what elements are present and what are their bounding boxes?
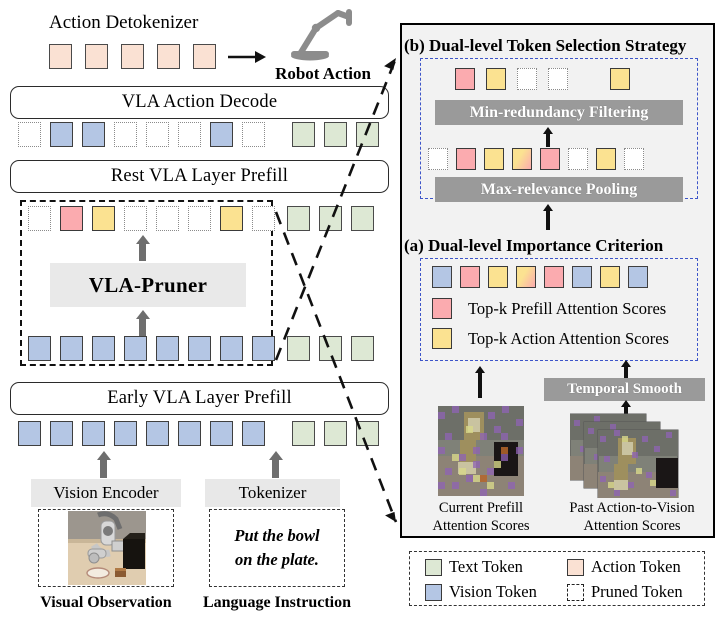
past-action-heatmap-stack xyxy=(570,410,686,498)
visual-observation-image xyxy=(68,511,146,585)
legend-vision-token: Vision Token xyxy=(425,582,537,602)
token-mixed-score xyxy=(512,148,532,170)
token-pruned xyxy=(146,122,169,147)
token-prefill-score xyxy=(460,266,480,288)
token-pruned xyxy=(252,206,275,231)
token-row-pruner-output xyxy=(28,206,275,231)
legend-label: Top-k Action Attention Scores xyxy=(468,329,669,349)
token-row-pruner-input-text xyxy=(287,336,374,361)
caption-line-2: Attention Scores xyxy=(420,517,542,535)
swatch-action-token xyxy=(567,559,584,576)
arrow-pooling-to-filtering xyxy=(546,133,550,147)
legend-label: Text Token xyxy=(449,557,523,577)
instruction-text: Put the bowl on the plate. xyxy=(234,524,319,572)
token-vision xyxy=(124,336,147,361)
token-action xyxy=(85,44,108,69)
token-vision xyxy=(18,421,41,446)
token-text xyxy=(319,336,342,361)
token-text xyxy=(356,122,379,147)
vla-pruner-block: VLA-Pruner xyxy=(50,263,246,307)
robot-action-label: Robot Action xyxy=(243,64,403,84)
token-pruned xyxy=(188,206,211,231)
stage-rest-vla-layer-prefill: Rest VLA Layer Prefill xyxy=(10,160,389,193)
token-vision xyxy=(60,336,83,361)
min-redundancy-label: Min-redundancy Filtering xyxy=(470,104,649,122)
token-pruned xyxy=(428,148,448,170)
token-pruned xyxy=(624,148,644,170)
legend-topk-action: Top-k Action Attention Scores xyxy=(432,328,669,349)
current-prefill-caption: Current Prefill Attention Scores xyxy=(420,499,542,535)
token-pruned xyxy=(114,122,137,147)
token-text xyxy=(324,122,347,147)
token-action-score xyxy=(220,206,243,231)
legend-label: Vision Token xyxy=(449,582,537,602)
token-text xyxy=(287,206,310,231)
token-action xyxy=(157,44,180,69)
legend-topk-prefill: Top-k Prefill Attention Scores xyxy=(432,298,666,319)
past-action-caption: Past Action-to-Vision Attention Scores xyxy=(556,499,708,535)
token-action xyxy=(49,44,72,69)
token-row-after-rest-prefill xyxy=(18,122,379,147)
swatch-action-score xyxy=(432,328,452,349)
action-detokenizer-label: Action Detokenizer xyxy=(49,12,198,34)
token-row-pruner-output-text xyxy=(287,206,374,231)
criterion-token-row xyxy=(432,266,648,288)
swatch-text-token xyxy=(425,559,442,576)
arrow-criterion-to-strategy xyxy=(546,210,550,230)
token-pruned xyxy=(28,206,51,231)
token-action-score xyxy=(610,68,630,90)
token-action-score xyxy=(600,266,620,288)
max-relevance-label: Max-relevance Pooling xyxy=(481,181,638,199)
caption-line-2: Attention Scores xyxy=(556,517,708,535)
token-text xyxy=(292,421,315,446)
arrow-input-to-pruner xyxy=(139,318,146,336)
token-vision xyxy=(178,421,201,446)
pooled-token-row xyxy=(428,148,644,170)
swatch-prefill-score xyxy=(432,298,452,319)
token-action-score xyxy=(484,148,504,170)
panel-a-title: (a) Dual-level Importance Criterion xyxy=(404,236,716,256)
token-action-score xyxy=(486,68,506,90)
token-text xyxy=(287,336,310,361)
token-vision xyxy=(628,266,648,288)
token-pruned xyxy=(156,206,179,231)
token-text xyxy=(324,421,347,446)
temporal-smooth-block: Temporal Smooth xyxy=(544,378,705,401)
token-vision xyxy=(210,421,233,446)
stage-label: Rest VLA Layer Prefill xyxy=(111,166,288,187)
panel-b-title: (b) Dual-level Token Selection Strategy xyxy=(404,36,716,56)
token-prefill-score xyxy=(544,266,564,288)
stage-label: Early VLA Layer Prefill xyxy=(107,388,292,409)
token-vision xyxy=(82,122,105,147)
vision-encoder-block: Vision Encoder xyxy=(31,479,181,507)
vla-pruner-label: VLA-Pruner xyxy=(89,273,207,298)
language-instruction-caption: Language Instruction xyxy=(197,594,357,612)
swatch-pruned-token xyxy=(567,584,584,601)
swatch-vision-token xyxy=(425,584,442,601)
token-vision xyxy=(432,266,452,288)
token-vision xyxy=(114,421,137,446)
max-relevance-pooling-block: Max-relevance Pooling xyxy=(435,177,683,202)
token-pruned xyxy=(18,122,41,147)
token-vision xyxy=(252,336,275,361)
temporal-smooth-label: Temporal Smooth xyxy=(567,381,682,398)
arrow-vision-encoder xyxy=(100,459,107,478)
token-vision xyxy=(188,336,211,361)
token-vision xyxy=(156,336,179,361)
token-action-score xyxy=(488,266,508,288)
min-redundancy-filtering-block: Min-redundancy Filtering xyxy=(435,100,683,125)
stage-vla-action-decode: VLA Action Decode xyxy=(10,86,389,119)
visual-observation-caption: Visual Observation xyxy=(18,594,194,612)
token-action xyxy=(121,44,144,69)
action-token-row xyxy=(49,44,216,69)
arrow-prefill-scores xyxy=(478,372,482,398)
current-prefill-heatmap xyxy=(438,406,524,496)
token-text xyxy=(319,206,342,231)
vision-encoder-label: Vision Encoder xyxy=(53,483,158,503)
token-pruned xyxy=(242,122,265,147)
token-text xyxy=(356,421,379,446)
token-text xyxy=(292,122,315,147)
tokenizer-block: Tokenizer xyxy=(205,479,340,507)
token-text xyxy=(351,336,374,361)
token-vision xyxy=(82,421,105,446)
legend-label: Top-k Prefill Attention Scores xyxy=(468,299,666,319)
stage-early-vla-layer-prefill: Early VLA Layer Prefill xyxy=(10,382,389,415)
arrow-pruner-to-output xyxy=(139,243,146,261)
arrow-tokenizer xyxy=(272,459,279,478)
token-row-after-early-prefill xyxy=(18,421,379,446)
token-prefill-score xyxy=(455,68,475,90)
language-instruction-box: Put the bowl on the plate. xyxy=(209,509,345,587)
filtered-token-row xyxy=(455,68,630,90)
robot-arm-icon xyxy=(286,4,358,67)
token-vision xyxy=(210,122,233,147)
token-pruned xyxy=(548,68,568,90)
token-row-pruner-input xyxy=(28,336,275,361)
legend-label: Pruned Token xyxy=(591,582,683,602)
token-vision xyxy=(220,336,243,361)
token-vision xyxy=(572,266,592,288)
token-vision xyxy=(146,421,169,446)
token-prefill-score xyxy=(540,148,560,170)
legend-action-token: Action Token xyxy=(567,557,681,577)
legend-pruned-token: Pruned Token xyxy=(567,582,683,602)
token-pruned xyxy=(517,68,537,90)
token-action xyxy=(193,44,216,69)
token-mixed-score xyxy=(516,266,536,288)
token-vision xyxy=(28,336,51,361)
token-vision xyxy=(242,421,265,446)
token-vision xyxy=(50,421,73,446)
token-pruned xyxy=(178,122,201,147)
legend-text-token: Text Token xyxy=(425,557,523,577)
token-text xyxy=(351,206,374,231)
token-pruned xyxy=(124,206,147,231)
token-prefill-score xyxy=(456,148,476,170)
stage-label: VLA Action Decode xyxy=(122,92,277,113)
token-vision xyxy=(50,122,73,147)
token-prefill-score xyxy=(60,206,83,231)
token-pruned xyxy=(568,148,588,170)
caption-line-1: Current Prefill xyxy=(420,499,542,517)
token-action-score xyxy=(596,148,616,170)
caption-line-1: Past Action-to-Vision xyxy=(556,499,708,517)
token-action-score xyxy=(92,206,115,231)
token-vision xyxy=(92,336,115,361)
legend-label: Action Token xyxy=(591,557,681,577)
tokenizer-label: Tokenizer xyxy=(239,483,307,503)
